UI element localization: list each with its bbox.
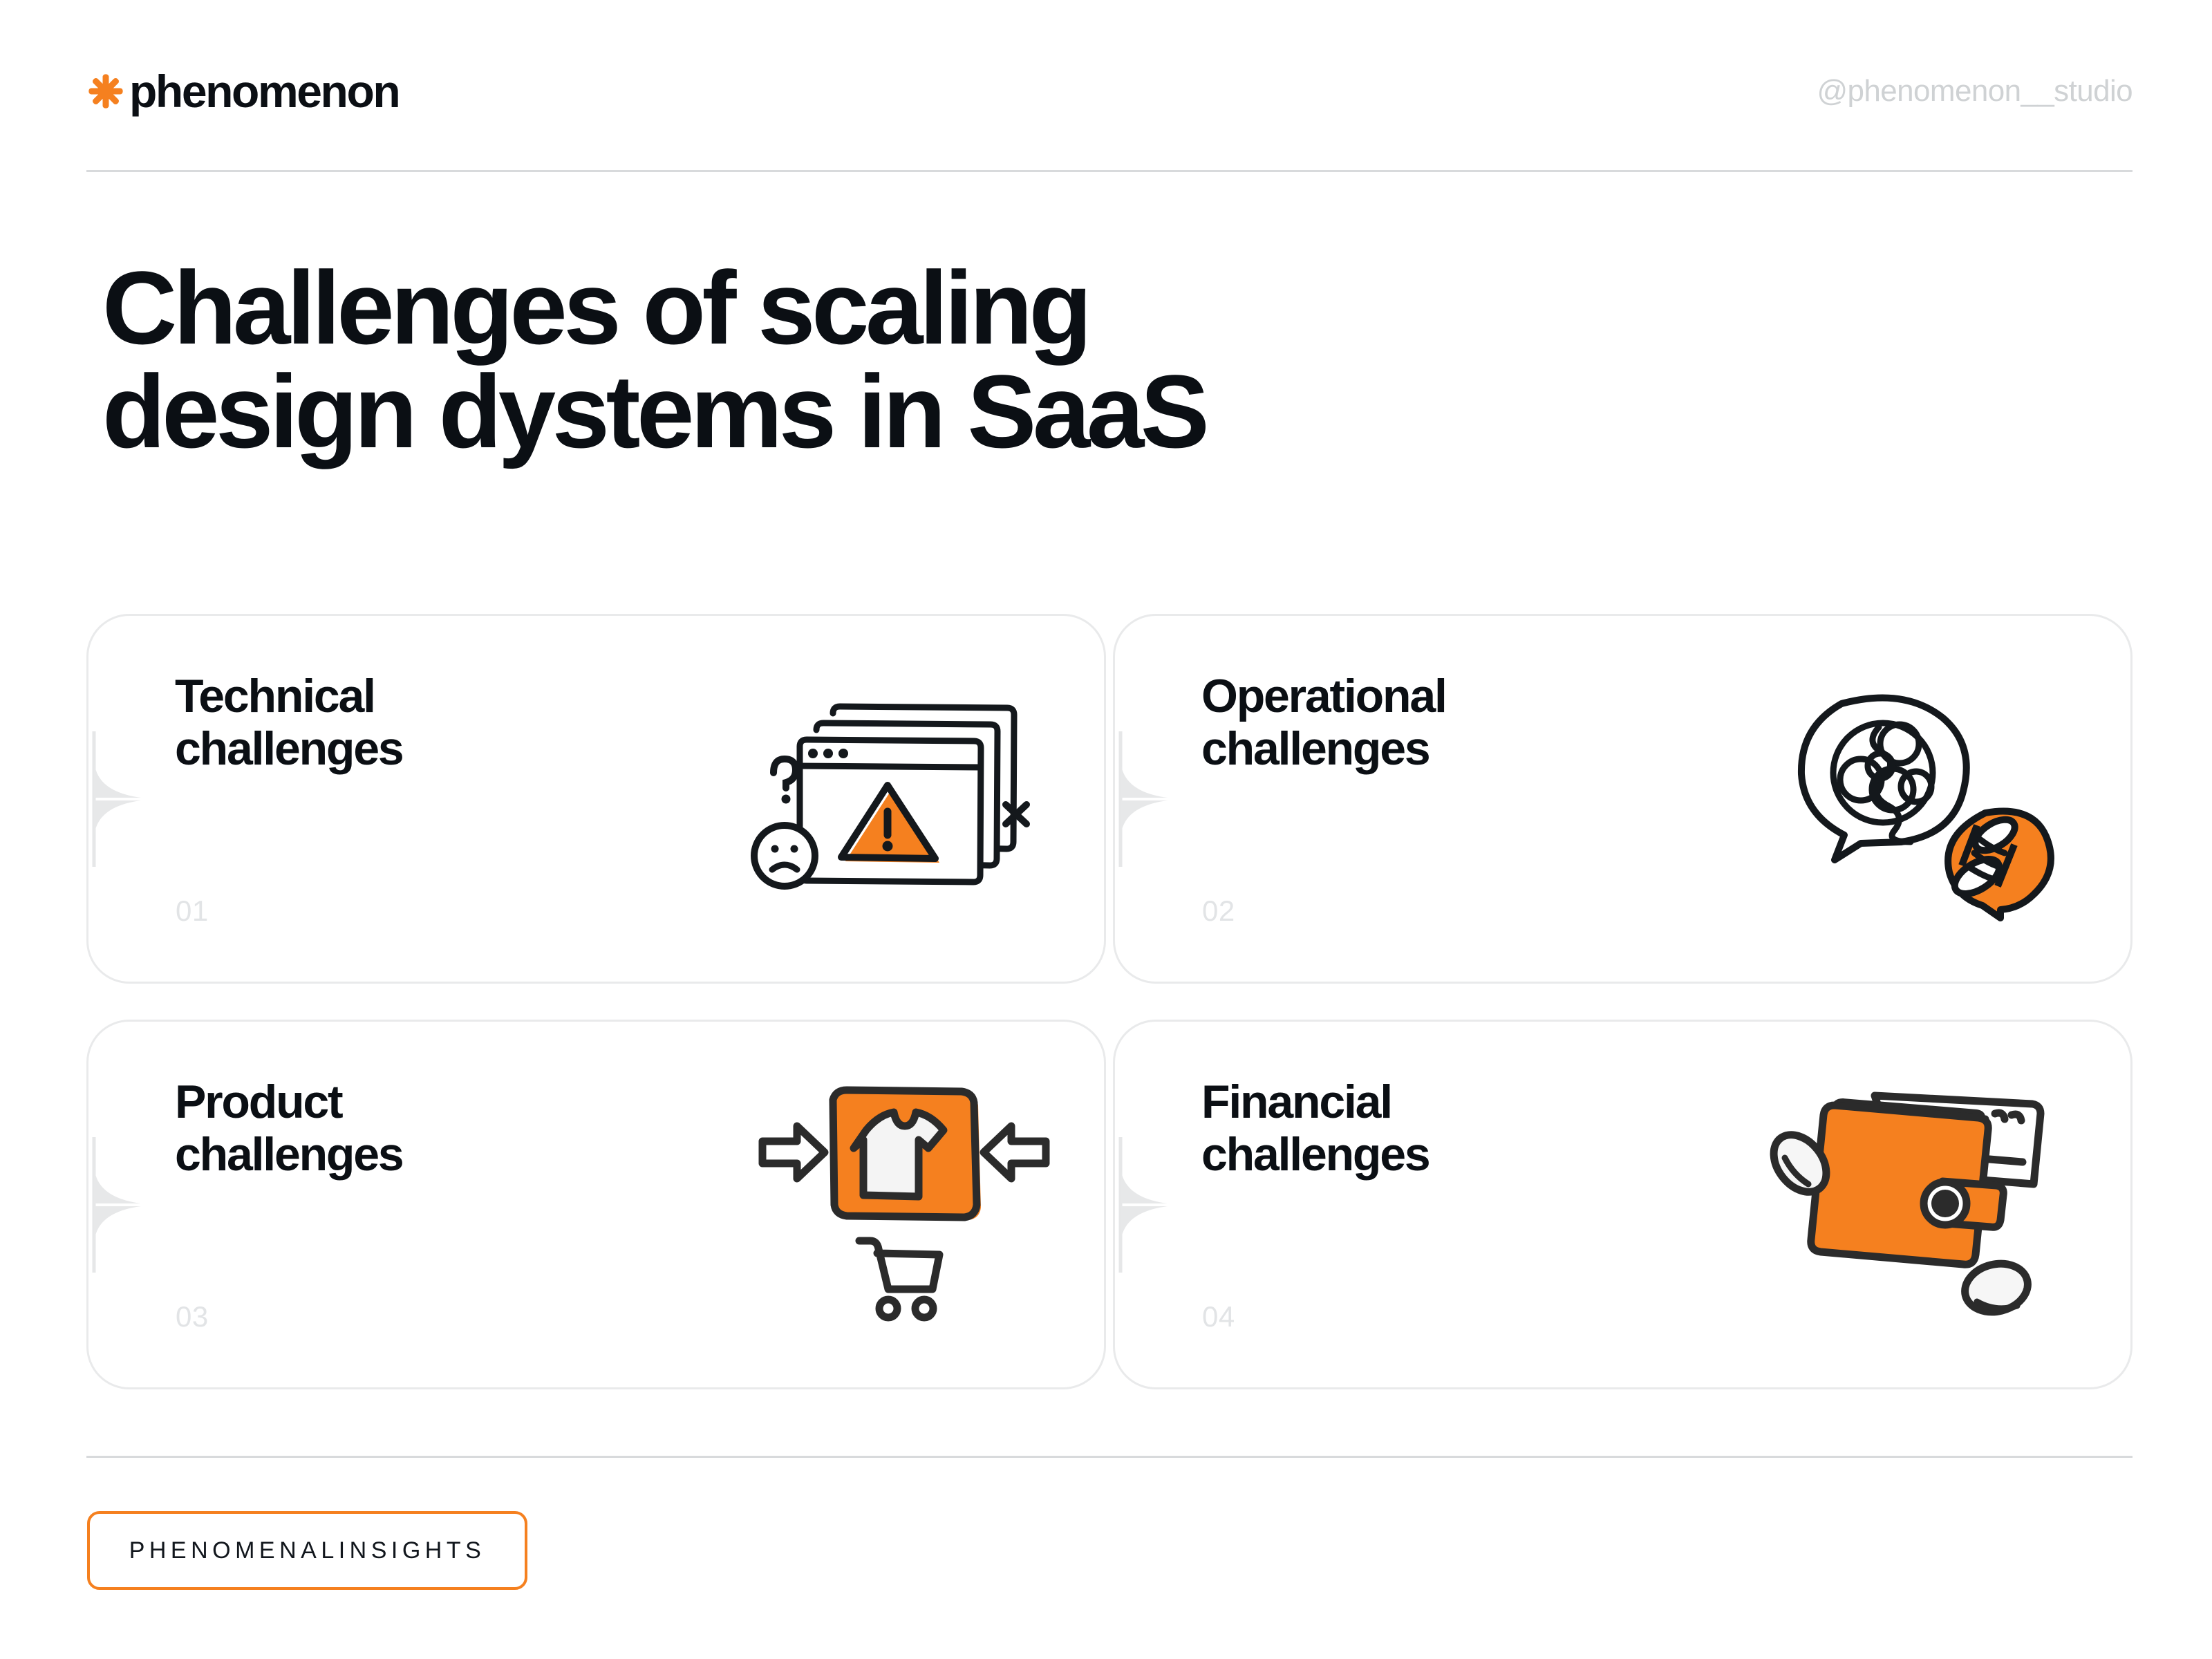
page-title: Challenges of scaling design dystems in … [102,256,1900,463]
footer-divider [86,1456,2133,1458]
challenge-card-product[interactable]: Product challenges 03 [86,1020,1106,1389]
card-number: 01 [176,894,209,928]
footer-badge-label: PHENOMENALINSIGHTS [129,1537,486,1564]
brand-logo[interactable]: phenomenon [86,68,399,114]
card-edge-accent-icon [1113,1136,1174,1274]
card-number: 02 [1202,894,1235,928]
card-edge-accent-icon [86,1136,148,1274]
challenge-card-technical[interactable]: Technical challenges 01 [86,614,1106,984]
challenge-card-financial[interactable]: Financial challenges 04 [1113,1020,2133,1389]
social-handle[interactable]: @phenomenon__studio [1817,74,2133,109]
challenge-card-grid: Technical challenges 01 [86,614,2133,1424]
challenge-card-operational[interactable]: Operational challenges 02 [1113,614,2133,984]
error-windows-illustration [731,675,1056,924]
asterisk-icon [86,72,125,111]
card-title: Technical challenges [175,670,403,775]
page-header: phenomenon @phenomenon__studio [86,57,2133,126]
card-title: Operational challenges [1201,670,1446,775]
card-title: Financial challenges [1201,1076,1430,1181]
header-divider [86,170,2133,172]
footer-badge[interactable]: PHENOMENALINSIGHTS [87,1511,527,1590]
speech-bubbles-illustration [1757,675,2082,924]
card-number: 04 [1202,1300,1235,1333]
brand-name: phenomenon [129,68,399,114]
card-edge-accent-icon [1113,730,1174,868]
card-number: 03 [176,1300,209,1333]
wallet-coins-illustration [1757,1080,2082,1329]
card-title: Product challenges [175,1076,403,1181]
tshirt-cart-illustration [731,1080,1056,1329]
card-edge-accent-icon [86,730,148,868]
